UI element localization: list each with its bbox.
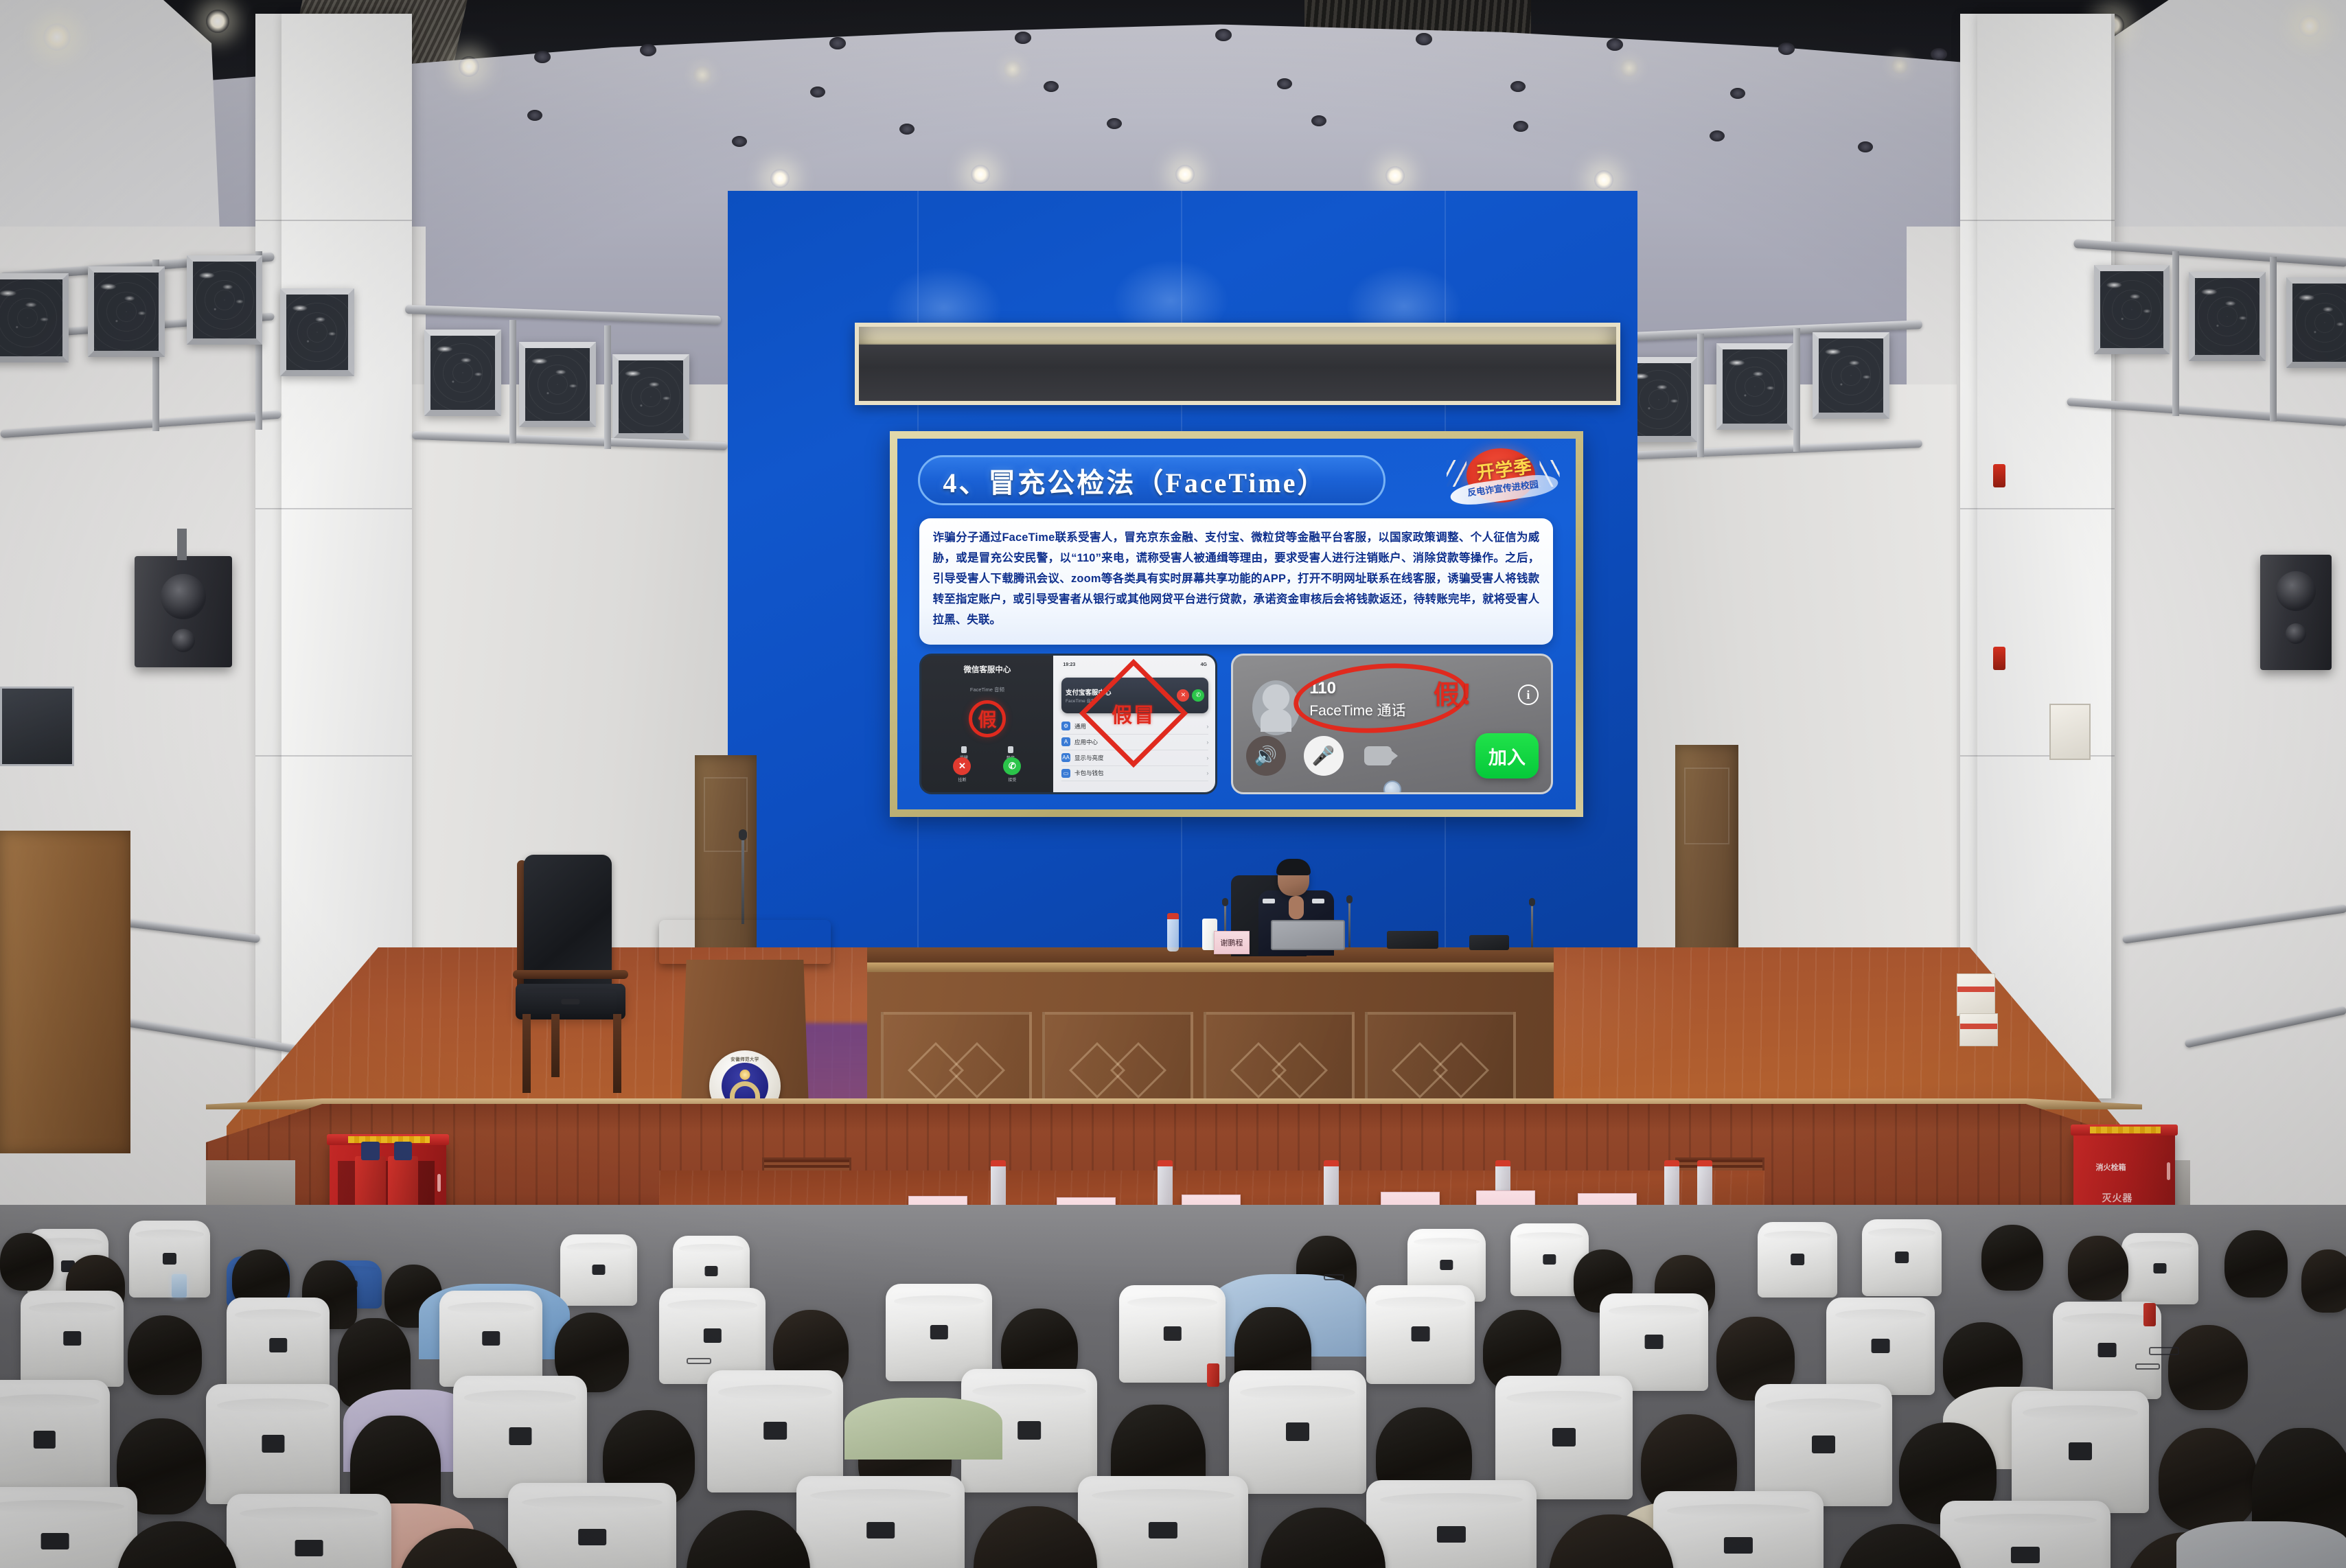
eyeglasses xyxy=(2149,1347,2179,1355)
beverage-can xyxy=(1207,1363,1219,1387)
audience-seat xyxy=(1940,1501,2111,1568)
audience-seat xyxy=(0,1380,110,1500)
audience-seat xyxy=(508,1483,676,1568)
audience-head xyxy=(2159,1428,2257,1531)
chevron-right-icon: › xyxy=(1206,770,1208,776)
audience-seat xyxy=(1826,1298,1935,1395)
audience-seat xyxy=(21,1291,124,1387)
alarm-strobe-left xyxy=(1993,464,2005,487)
caller-name: 微信客服中心 xyxy=(921,664,1054,675)
speaker-cone xyxy=(161,574,206,619)
ceiling-downlight-off xyxy=(1858,141,1873,152)
ceiling-downlight-off xyxy=(640,44,656,56)
audience-seat xyxy=(1862,1219,1942,1296)
audience-seat xyxy=(227,1494,391,1568)
cardboard-box xyxy=(1959,1013,1998,1046)
stage-chair xyxy=(511,855,635,1088)
slide-body-card: 诈骗分子通过FaceTime联系受害人，冒充京东金融、支付宝、微粒贷等金融平台客… xyxy=(919,518,1554,645)
audience-seat xyxy=(439,1291,542,1387)
audience-seat xyxy=(227,1298,330,1394)
ceiling-downlight-off xyxy=(1607,38,1623,51)
audience-seat xyxy=(1229,1370,1366,1494)
audience-seat xyxy=(659,1288,766,1384)
video-camera-icon[interactable] xyxy=(1364,746,1392,765)
eyeglasses xyxy=(1324,1274,1344,1280)
phone-mockup-right: 110 FaceTime 通话 假！ i 🔊 🎤 加入 xyxy=(1231,654,1553,794)
slide-body-text: 诈骗分子通过FaceTime联系受害人，冒充京东金融、支付宝、微粒贷等金融平台客… xyxy=(933,528,1540,630)
ceiling-downlight-off xyxy=(899,124,915,135)
appstore-icon: A xyxy=(1061,737,1070,746)
ceiling-downlight-off xyxy=(1778,43,1795,55)
slide-title-text: 4、冒充公检法（FaceTime） xyxy=(943,461,1326,500)
wall-speaker-right xyxy=(2260,555,2332,670)
ceiling-downlight-off xyxy=(534,51,551,63)
audience-head xyxy=(2224,1230,2288,1298)
audience-seat xyxy=(206,1384,340,1504)
fake-annotation-text: 假！ xyxy=(1434,673,1487,711)
settings-row[interactable]: ▭ 卡包与钱包 › xyxy=(1061,766,1208,782)
audience-seat xyxy=(0,1487,137,1568)
caller-subtitle: FaceTime 音频 xyxy=(921,686,1054,693)
status-time: 19:23 xyxy=(1063,662,1075,667)
acoustic-panel xyxy=(0,273,69,362)
audience-seat xyxy=(1653,1491,1824,1568)
home-button[interactable] xyxy=(1383,781,1401,794)
ceiling-downlight xyxy=(459,56,479,77)
ceiling-downlight-off xyxy=(1311,115,1326,126)
chevron-right-icon: › xyxy=(1206,754,1208,761)
ceiling-downlight xyxy=(770,169,790,188)
wall-speaker-left xyxy=(135,556,232,667)
ceiling-downlight-off xyxy=(1015,32,1031,44)
ceiling-downlight-off xyxy=(810,87,825,97)
ceiling-downlight-off xyxy=(829,37,846,49)
water-bottle xyxy=(1167,913,1179,952)
emblem-text-cn: 安徽师范大学 xyxy=(709,1055,781,1062)
speaker-cone xyxy=(172,629,195,652)
eyeglasses xyxy=(2135,1363,2160,1370)
mute-icon[interactable] xyxy=(1008,746,1013,753)
ceiling-downlight-off xyxy=(1277,78,1292,89)
badge-ray-left xyxy=(1447,460,1467,487)
ceiling-downlight xyxy=(1891,58,1908,74)
banner-decline-button[interactable]: ✕ xyxy=(1177,689,1189,702)
audience-seat xyxy=(1755,1384,1892,1506)
audience-seat xyxy=(2012,1391,2149,1513)
ceiling-downlight-off xyxy=(1730,88,1745,99)
audience-head xyxy=(0,1233,54,1291)
equipment-case xyxy=(1469,935,1509,950)
audience-seat xyxy=(1366,1480,1537,1568)
table-microphone xyxy=(1531,903,1533,947)
lectern-top xyxy=(659,920,831,964)
facetime-controls: 🔊 🎤 加入 xyxy=(1246,733,1539,779)
balcony-rail-post xyxy=(1697,334,1704,457)
accept-label: 接受 xyxy=(1003,776,1021,783)
call-primary-actions: ✕ 挂断 ✆ 接受 xyxy=(921,757,1054,783)
microphone-icon xyxy=(741,838,744,924)
audience-seat xyxy=(2121,1233,2198,1304)
chevron-right-icon: › xyxy=(1206,723,1208,730)
acoustic-panel xyxy=(88,266,165,357)
avatar xyxy=(1252,680,1300,735)
auditorium-photo: 4、冒充公检法（FaceTime） 开学季 反电诈宣传进校园 诈骗分子通过Fac… xyxy=(0,0,2346,1568)
ceiling-downlight-off xyxy=(732,136,747,147)
speaker-name-card: 谢鹏程 xyxy=(1214,931,1250,954)
decline-label: 挂断 xyxy=(953,776,971,783)
status-signal: 4G xyxy=(1201,662,1207,667)
acoustic-panel xyxy=(612,354,689,439)
ceiling-downlight xyxy=(1385,166,1405,185)
led-banner-board xyxy=(855,323,1620,405)
ceiling-downlight-off xyxy=(1107,118,1122,129)
projection-screen-frame: 4、冒充公检法（FaceTime） 开学季 反电诈宣传进校园 诈骗分子通过Fac… xyxy=(890,431,1583,817)
slide-phone-mockups: 微信客服中心 FaceTime 音频 假 提醒 静音 xyxy=(919,654,1554,794)
wall-panel-left xyxy=(0,687,74,766)
ceiling-downlight-off xyxy=(1510,81,1526,92)
audience-head xyxy=(2168,1325,2248,1410)
balcony-rail-post xyxy=(2172,251,2179,416)
ceiling-downlight-off xyxy=(1416,33,1432,45)
decline-call-button[interactable]: ✕ xyxy=(953,757,971,775)
audience-head xyxy=(1981,1225,2043,1291)
audience-head xyxy=(2068,1236,2128,1300)
settings-row-label: 卡包与钱包 xyxy=(1074,769,1104,777)
speaker-cone xyxy=(2286,623,2306,644)
ceiling-downlight-off xyxy=(1215,29,1232,41)
settings-row-label: 应用中心 xyxy=(1074,738,1098,746)
ceiling-downlight xyxy=(1594,170,1613,189)
audience-shoulders xyxy=(2176,1521,2346,1568)
balcony-rail-post xyxy=(604,325,611,449)
ceiling-downlight-off xyxy=(1513,121,1528,132)
emblem-sun xyxy=(740,1070,750,1080)
ceiling-downlight xyxy=(43,23,71,51)
slide-title-pill: 4、冒充公检法（FaceTime） xyxy=(918,455,1386,505)
microphone-icon[interactable]: 🎤 xyxy=(1304,736,1344,776)
ceiling-downlight xyxy=(1620,59,1638,77)
display-icon: AA xyxy=(1061,753,1070,762)
acoustic-panel xyxy=(424,330,501,416)
join-call-button[interactable]: 加入 xyxy=(1475,733,1539,779)
speaker-icon[interactable]: 🔊 xyxy=(1246,736,1286,776)
ceiling-downlight-off xyxy=(1044,81,1059,92)
audience-seat xyxy=(1078,1476,1248,1568)
acoustic-panel xyxy=(280,288,354,376)
acoustic-panel xyxy=(1813,332,1889,419)
pillar-left-inner xyxy=(281,14,412,1098)
audience-seat xyxy=(1758,1222,1837,1298)
audience-seat xyxy=(560,1234,637,1306)
facetime-call-screen: 110 FaceTime 通话 假！ i 🔊 🎤 加入 xyxy=(1233,656,1551,792)
balcony-rail-post xyxy=(1793,328,1800,452)
mobile-phone xyxy=(172,1274,187,1298)
ceiling-downlight-off xyxy=(1931,48,1947,60)
campus-campaign-badge: 开学季 反电诈宣传进校园 xyxy=(1445,446,1561,509)
banner-accept-button[interactable]: ✆ xyxy=(1192,689,1204,702)
audience-shoulders xyxy=(844,1398,1002,1460)
phone-mockup-left: 微信客服中心 FaceTime 音频 假 提醒 静音 xyxy=(919,654,1217,794)
settings-with-call-banner: 19:23 4G 支付宝客服中心 FaceTime 音频 ✕ ✆ xyxy=(1053,656,1215,792)
pillar-right-inner xyxy=(1977,14,2111,1098)
acoustic-panel xyxy=(2094,265,2170,354)
gear-icon: ⚙ xyxy=(1061,722,1070,730)
audience-seat xyxy=(796,1476,965,1568)
info-icon[interactable]: i xyxy=(1518,684,1539,705)
balcony-rail-post xyxy=(2270,257,2277,422)
balcony-rail-post xyxy=(509,320,516,443)
table-microphone xyxy=(1348,901,1350,947)
ceiling-downlight-off xyxy=(1710,130,1725,141)
ceiling-downlight xyxy=(693,66,711,84)
cabinet-sublabel: 灭火器 xyxy=(2102,1191,2132,1205)
ceiling-downlight xyxy=(2299,15,2321,37)
led-banner-text xyxy=(859,327,1616,401)
audience-seat xyxy=(707,1370,843,1492)
audience-head xyxy=(128,1315,202,1395)
laptop xyxy=(1267,920,1349,956)
acoustic-panel xyxy=(2189,272,2266,361)
audience-seat xyxy=(886,1284,992,1381)
speaker-mount xyxy=(177,529,187,560)
ceiling-downlight-off xyxy=(527,110,542,121)
ceiling-downlight xyxy=(1175,165,1195,184)
cabinet-label: 消火栓箱 xyxy=(2096,1162,2126,1174)
ceiling-downlight xyxy=(1004,60,1022,78)
speaker-cone xyxy=(2276,571,2316,611)
audience-seat xyxy=(129,1221,210,1298)
acoustic-panel xyxy=(519,342,596,427)
audience-seat xyxy=(1366,1285,1475,1384)
remind-icon[interactable] xyxy=(961,746,967,753)
wall-box-right xyxy=(2049,704,2091,760)
presentation-slide: 4、冒充公检法（FaceTime） 开学季 反电诈宣传进校园 诈骗分子通过Fac… xyxy=(897,439,1576,809)
audience-head xyxy=(2301,1249,2346,1313)
accept-call-button[interactable]: ✆ xyxy=(1003,757,1021,775)
chevron-right-icon: › xyxy=(1206,739,1208,746)
ceiling-downlight xyxy=(206,10,229,33)
fake-stamp-circle: 假 xyxy=(969,700,1006,737)
settings-row-label: 显示与亮度 xyxy=(1074,754,1104,762)
cardboard-box xyxy=(1957,973,1995,1016)
wallet-icon: ▭ xyxy=(1061,769,1070,778)
alarm-strobe-right xyxy=(1993,647,2005,670)
acoustic-panel xyxy=(187,255,262,345)
stage-door-right[interactable] xyxy=(1675,745,1738,971)
fake-stamp-diamond-text: 假冒 xyxy=(1112,698,1155,728)
equipment-case xyxy=(1387,931,1438,949)
audience-seat xyxy=(453,1376,587,1498)
beverage-can xyxy=(2143,1303,2156,1326)
banner-actions: ✕ ✆ xyxy=(1177,689,1204,702)
acoustic-panel xyxy=(2286,277,2346,368)
acoustic-panel xyxy=(1716,343,1793,430)
incoming-call-screen: 微信客服中心 FaceTime 音频 假 提醒 静音 xyxy=(921,656,1054,792)
hall-door-left[interactable] xyxy=(0,831,130,1153)
eyeglasses xyxy=(687,1358,711,1364)
settings-row-label: 通用 xyxy=(1074,722,1086,730)
ceiling-downlight xyxy=(971,165,990,184)
